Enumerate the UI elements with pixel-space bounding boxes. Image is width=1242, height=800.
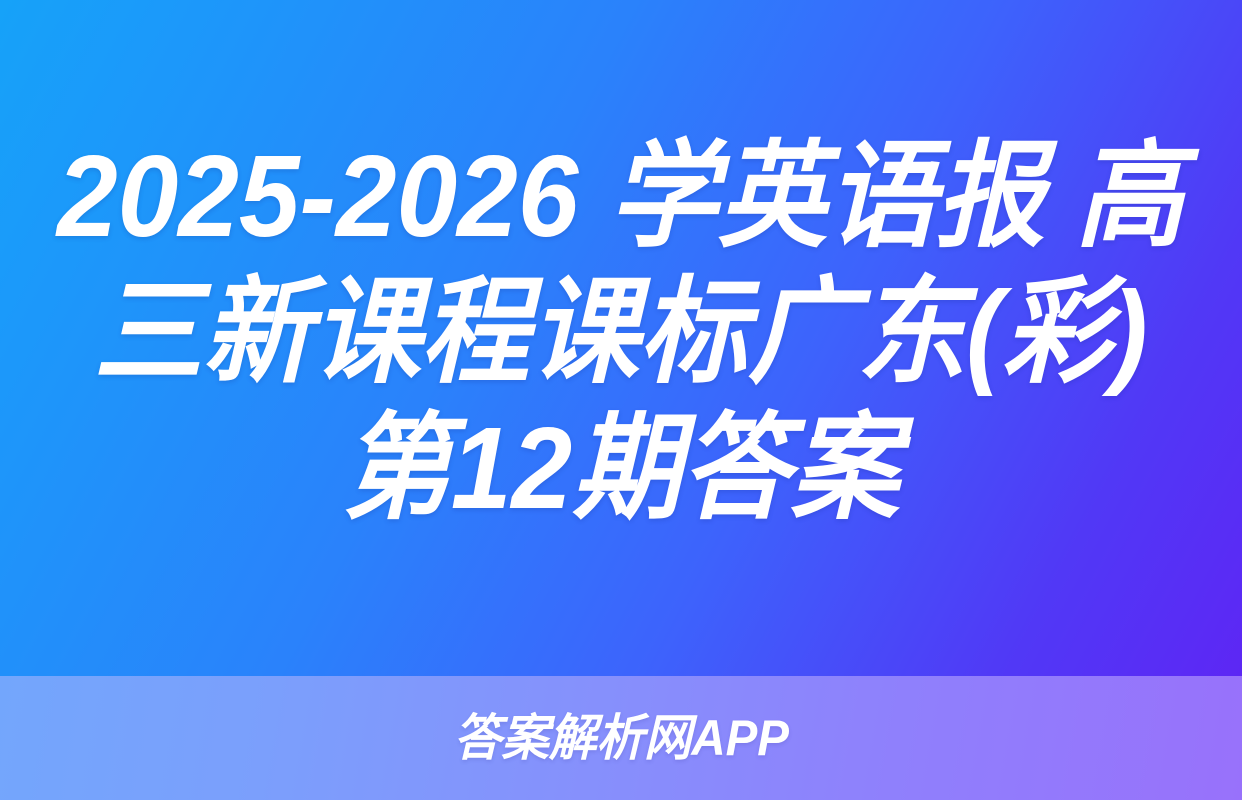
promo-cover-card: 2025-2026 学英语报 高 三新课程课标广东(彩) 第12期答案 答案解析… [0, 0, 1242, 800]
app-watermark-label: 答案解析网APP [453, 710, 788, 766]
headline-block: 2025-2026 学英语报 高 三新课程课标广东(彩) 第12期答案 [0, 0, 1242, 676]
footer-watermark-band: 答案解析网APP [0, 676, 1242, 800]
headline-line-3: 第12期答案 [342, 400, 899, 536]
headline-line-1: 2025-2026 学英语报 高 [57, 128, 1184, 264]
headline-line-2: 三新课程课标广东(彩) [94, 264, 1148, 400]
